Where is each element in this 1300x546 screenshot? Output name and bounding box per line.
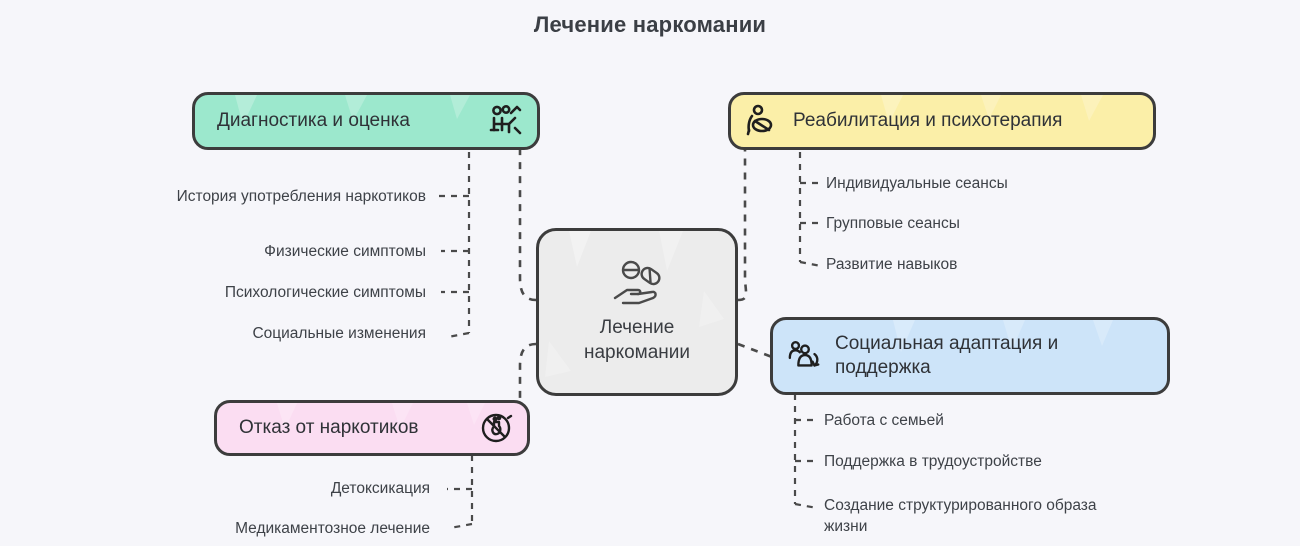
person-examination-icon — [489, 103, 525, 139]
person-therapy-icon — [745, 103, 781, 139]
mindmap-canvas: Лечение наркомании — [0, 0, 1300, 546]
branch-node-diagnostics[interactable]: Диагностика и оценка — [192, 92, 540, 150]
rehabilitation-label: Реабилитация и психотерапия — [793, 109, 1062, 133]
no-drugs-icon — [479, 410, 515, 446]
branch-node-social[interactable]: Социальная адаптация и поддержка — [770, 317, 1170, 395]
social-label-line2: поддержка — [835, 357, 931, 378]
leaf-social-1: Работа с семьей — [824, 411, 944, 432]
central-label-line2: наркомании — [584, 342, 690, 363]
leaf-diagnostics-3: Психологические симптомы — [225, 283, 426, 304]
central-node[interactable]: Лечение наркомании — [536, 228, 738, 396]
leaf-diagnostics-1: История употребления наркотиков — [177, 187, 426, 208]
hand-with-pills-icon — [609, 259, 665, 310]
leaf-diagnostics-2: Физические симптомы — [264, 242, 426, 263]
central-label-line1: Лечение — [600, 317, 675, 338]
branch-node-rehabilitation[interactable]: Реабилитация и психотерапия — [728, 92, 1156, 150]
page-title: Лечение наркомании — [0, 12, 1300, 38]
leaf-refusal-2: Медикаментозное лечение — [235, 519, 430, 540]
leaf-diagnostics-4: Социальные изменения — [252, 324, 426, 345]
diagnostics-label: Диагностика и оценка — [217, 109, 410, 133]
central-node-label: Лечение наркомании — [584, 316, 690, 365]
social-label-line1: Социальная адаптация и — [835, 333, 1058, 354]
branch-node-refusal[interactable]: Отказ от наркотиков — [214, 400, 530, 456]
central-texture — [539, 231, 735, 393]
people-support-icon — [787, 338, 823, 374]
leaf-social-3: Создание структурированного образа жизни — [824, 496, 1134, 538]
leaf-rehabilitation-1: Индивидуальные сеансы — [826, 174, 1008, 195]
leaf-rehabilitation-3: Развитие навыков — [826, 255, 957, 276]
leaf-refusal-1: Детоксикация — [331, 479, 430, 500]
refusal-label: Отказ от наркотиков — [239, 416, 419, 440]
social-label: Социальная адаптация и поддержка — [835, 332, 1058, 380]
leaf-social-2: Поддержка в трудоустройстве — [824, 452, 1042, 473]
leaf-rehabilitation-2: Групповые сеансы — [826, 214, 960, 235]
